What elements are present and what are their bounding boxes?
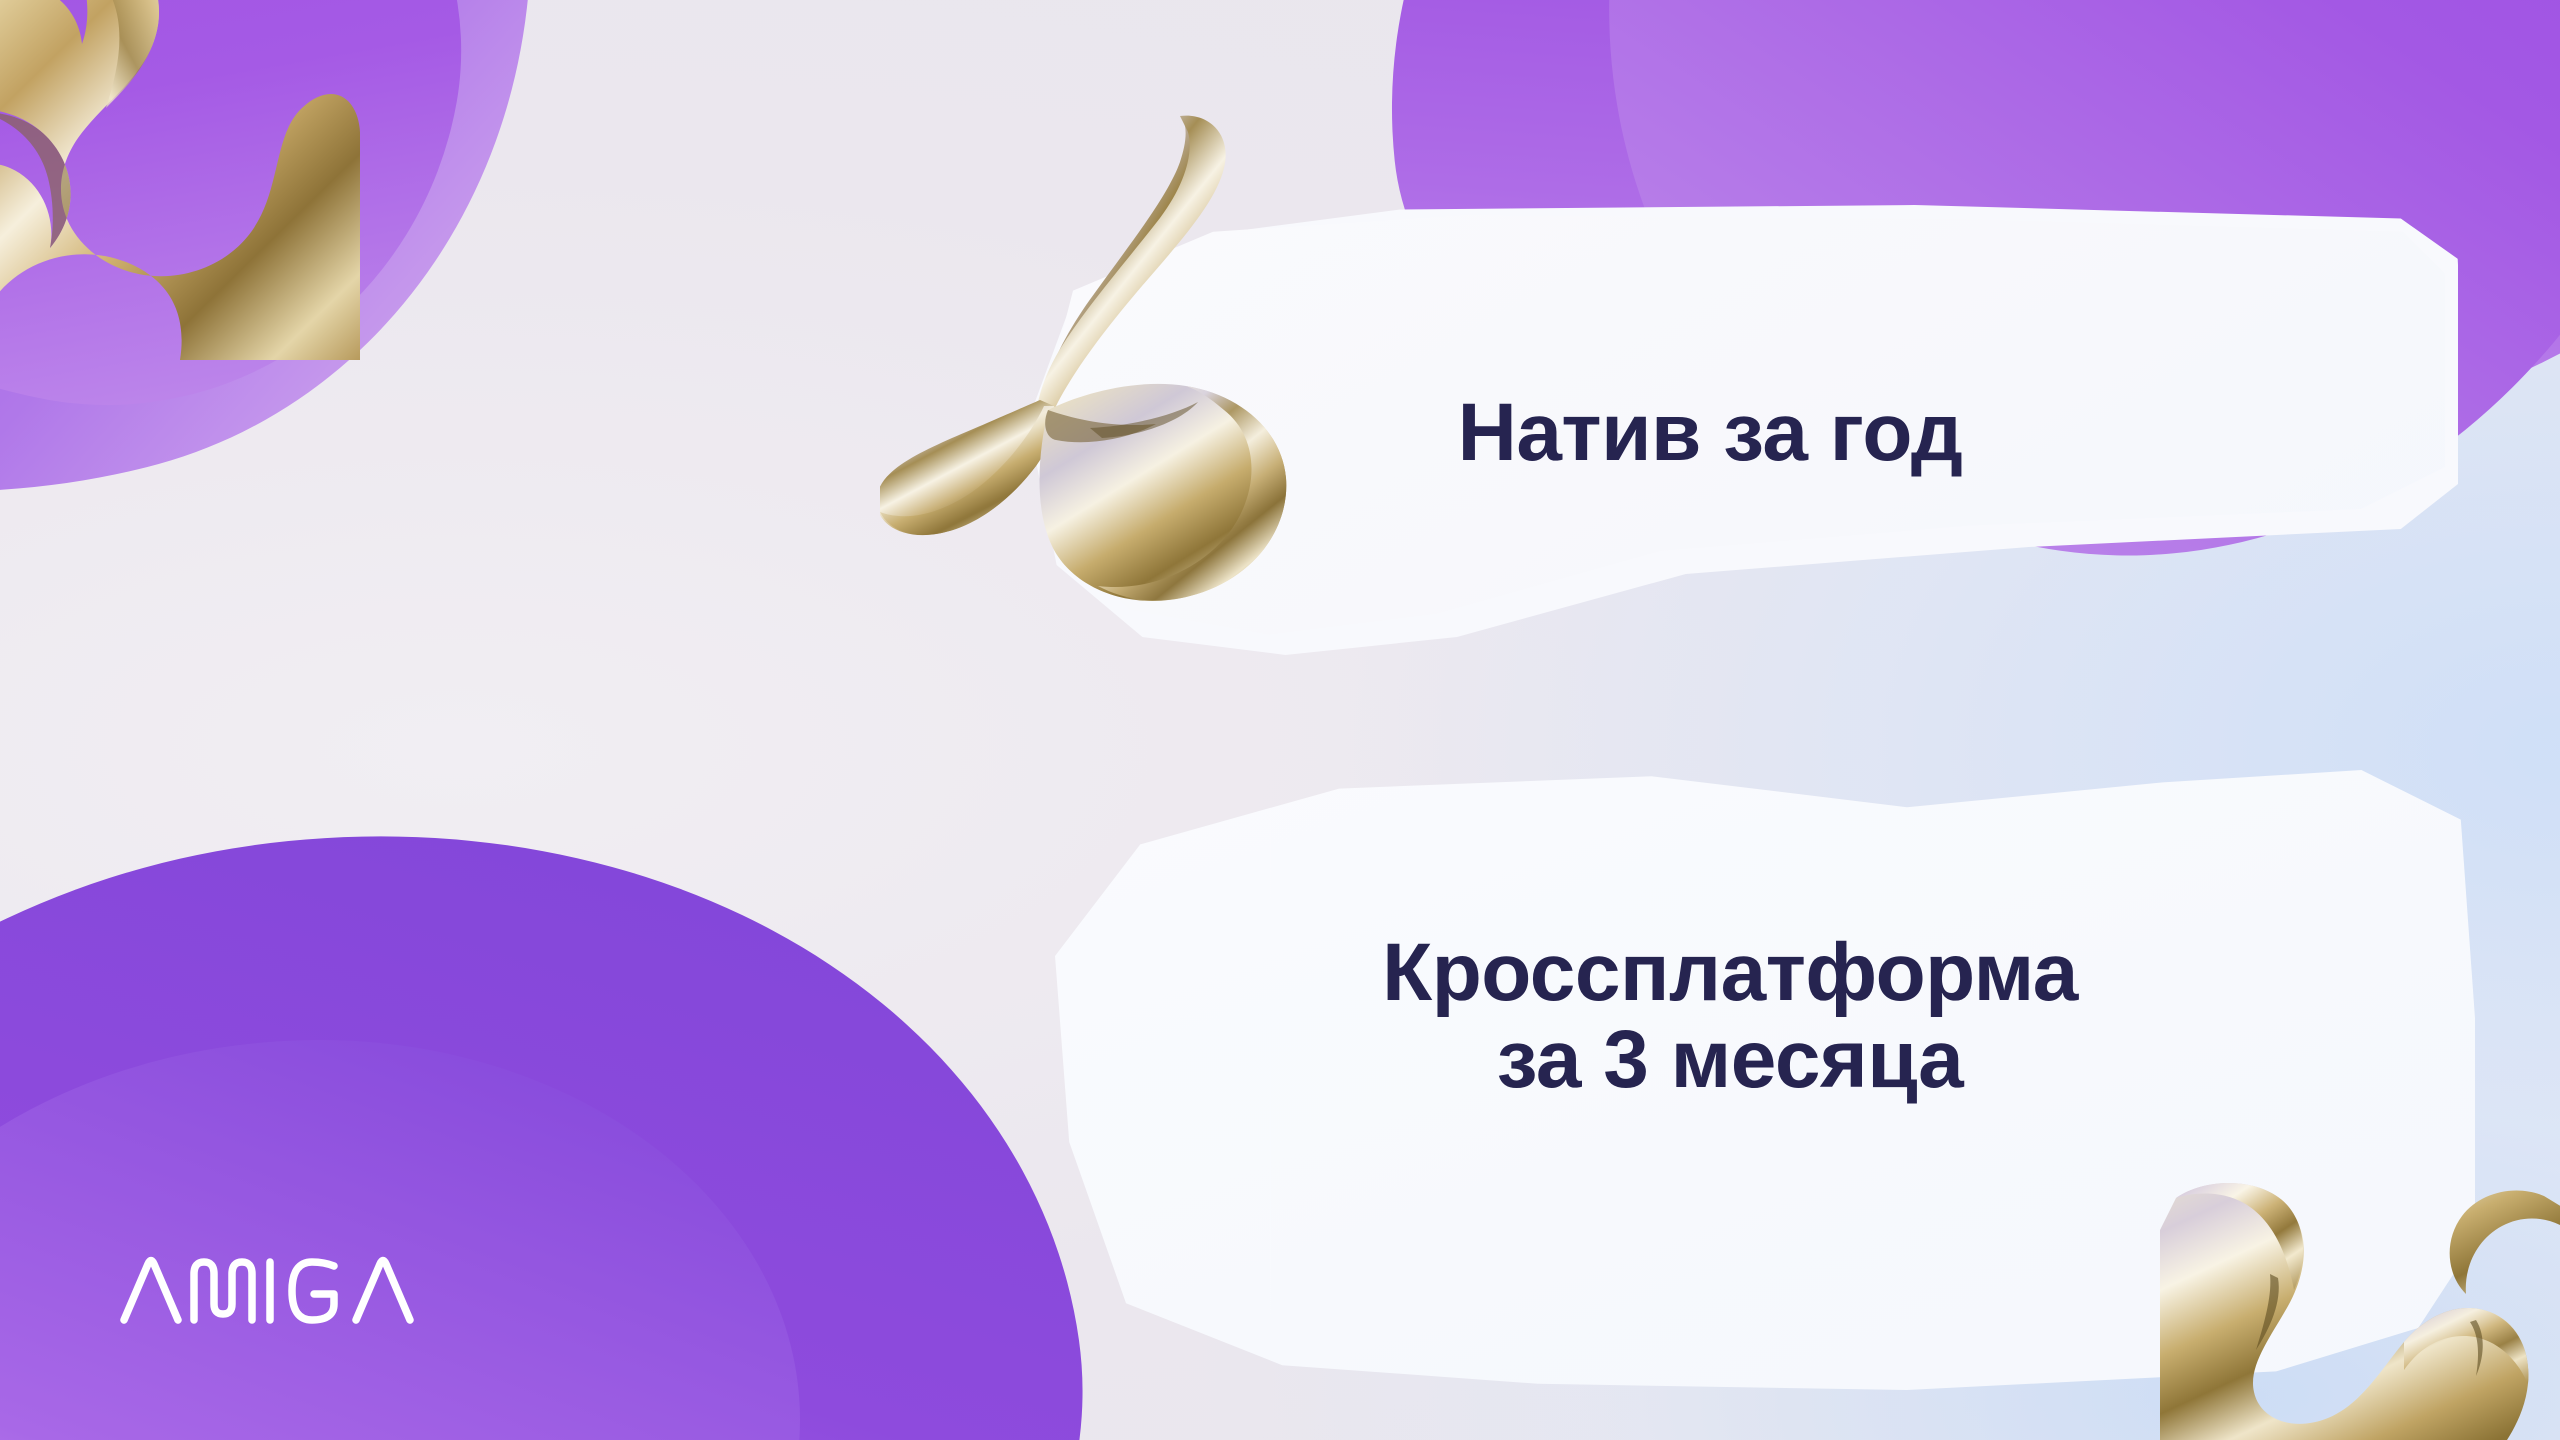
promo-banner: Натив за год Кроссплатформа за 3 месяца bbox=[0, 0, 2560, 1440]
liquid-metal-sculpture-bottom-icon bbox=[2160, 1170, 2560, 1440]
headline-crossplatform-three-months: Кроссплатформа за 3 месяца bbox=[1230, 930, 2230, 1104]
amiga-logo bbox=[118, 1248, 428, 1328]
headline-native-per-year: Натив за год bbox=[1230, 390, 2190, 477]
liquid-metal-sculpture-icon bbox=[0, 0, 360, 360]
liquid-metal-sculpture-center-icon bbox=[880, 110, 1300, 610]
